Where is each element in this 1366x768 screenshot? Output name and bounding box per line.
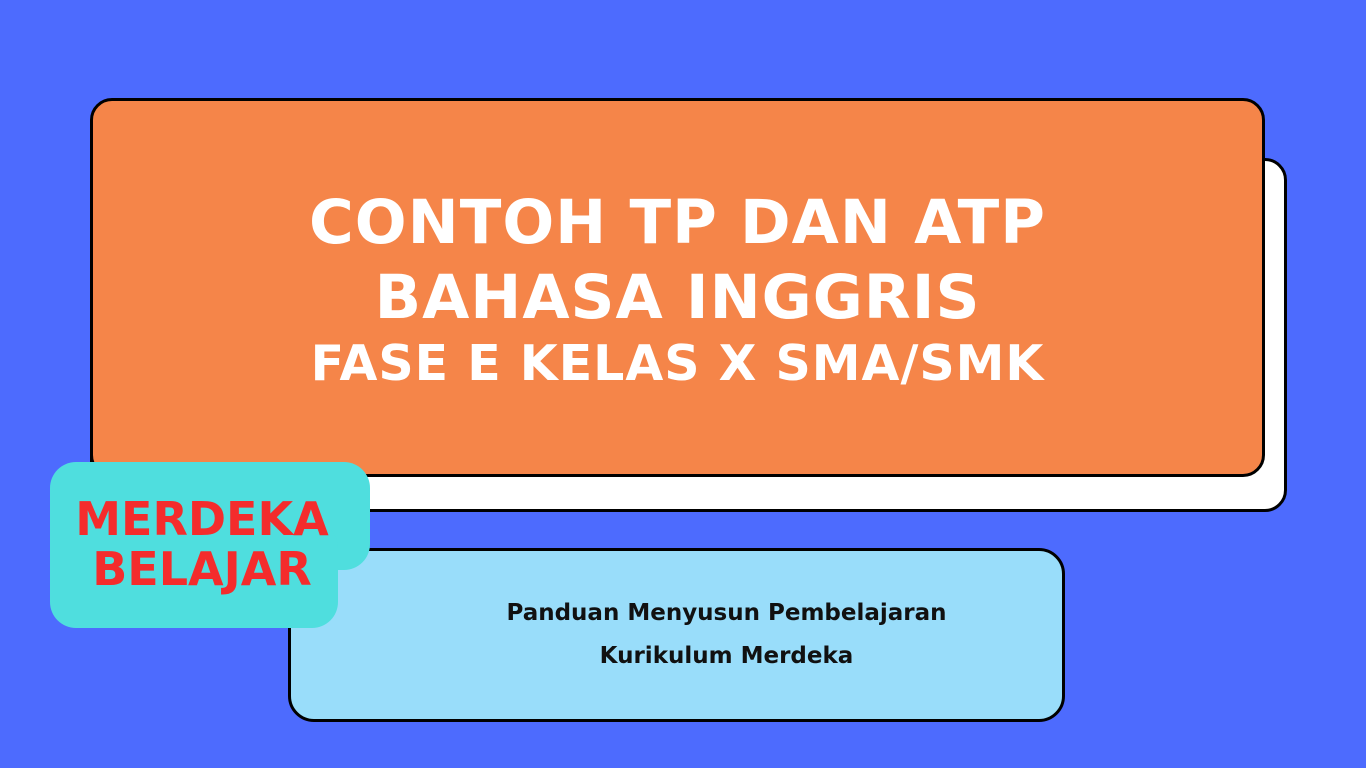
title-line-2: BAHASA INGGRIS [375,266,981,331]
subtitle-line-2: Kurikulum Merdeka [500,635,854,678]
poster-canvas: CONTOH TP DAN ATP BAHASA INGGRIS FASE E … [0,0,1366,768]
subtitle-card: Panduan Menyusun Pembelajaran Kurikulum … [288,548,1065,722]
title-card: CONTOH TP DAN ATP BAHASA INGGRIS FASE E … [90,98,1265,477]
subtitle-line-1: Panduan Menyusun Pembelajaran [406,592,946,635]
badge-line-2: BELAJAR [92,545,312,595]
badge-text-group: MERDEKA BELAJAR [50,462,370,628]
title-line-1: CONTOH TP DAN ATP [309,191,1046,256]
title-line-3: FASE E KELAS X SMA/SMK [311,338,1045,390]
badge-line-1: MERDEKA [75,495,328,545]
merdeka-belajar-badge: MERDEKA BELAJAR [50,462,370,628]
